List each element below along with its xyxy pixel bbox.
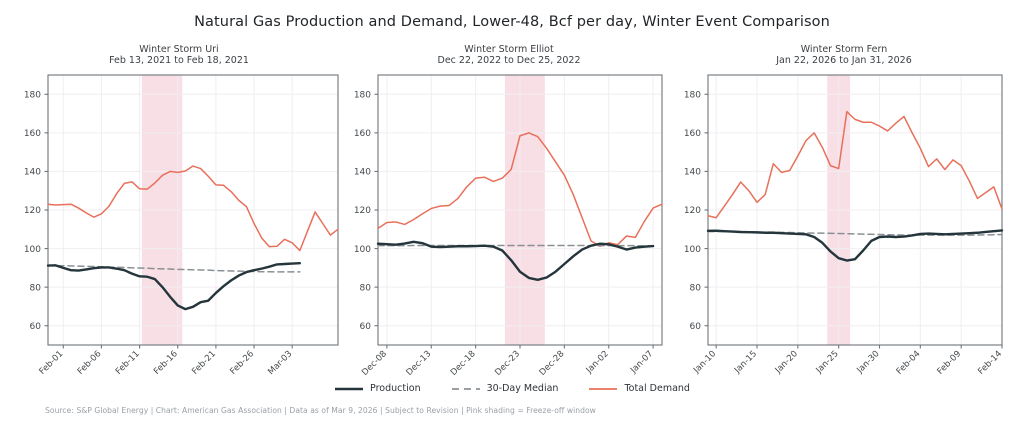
chart-page: Natural Gas Production and Demand, Lower… [0, 0, 1024, 436]
legend-swatch-demand-icon [588, 384, 618, 394]
panel-winter-storm-uri: Winter Storm Uri Feb 13, 2021 to Feb 18,… [14, 44, 344, 394]
legend-label-production: Production [370, 383, 421, 394]
xtick-label: Jan-30 [855, 349, 882, 376]
page-title: Natural Gas Production and Demand, Lower… [0, 14, 1024, 30]
xtick-label: Feb-01 [38, 349, 66, 377]
xtick-label: Jan-20 [773, 349, 800, 376]
ytick-label: 140 [354, 168, 371, 178]
chart-svg-2: 6080100120140160180Jan-10Jan-15Jan-20Jan… [674, 44, 1014, 394]
ytick-label: 60 [30, 322, 42, 332]
ytick-label: 180 [24, 90, 41, 100]
xtick-label: Dec-13 [405, 349, 434, 378]
panel-winter-storm-elliot: Winter Storm Elliot Dec 22, 2022 to Dec … [344, 44, 674, 394]
xtick-label: Dec-28 [538, 349, 567, 378]
xtick-label: Feb-14 [976, 349, 1004, 377]
legend-label-demand: Total Demand [624, 383, 690, 394]
legend-swatch-median-icon [451, 384, 481, 394]
xtick-label: Mar-03 [266, 349, 294, 377]
legend-item-production[interactable]: Production [334, 383, 421, 394]
ytick-label: 100 [354, 245, 371, 255]
xtick-label: Feb-16 [152, 349, 180, 377]
legend-item-median[interactable]: 30-Day Median [451, 383, 559, 394]
ytick-label: 140 [684, 168, 701, 178]
ytick-label: 180 [354, 90, 371, 100]
panels-container: Winter Storm Uri Feb 13, 2021 to Feb 18,… [0, 44, 1024, 394]
ytick-label: 120 [24, 206, 41, 216]
chart-svg-1: 6080100120140160180Dec-08Dec-13Dec-18Dec… [344, 44, 674, 394]
xtick-label: Dec-23 [493, 349, 522, 378]
xtick-label: Feb-04 [895, 349, 923, 377]
ytick-label: 120 [354, 206, 371, 216]
legend-label-median: 30-Day Median [487, 383, 559, 394]
ytick-label: 100 [684, 245, 701, 255]
ytick-label: 160 [354, 129, 371, 139]
ytick-label: 80 [30, 283, 42, 293]
ytick-label: 160 [24, 129, 41, 139]
panel-winter-storm-fern: Winter Storm Fern Jan 22, 2026 to Jan 31… [674, 44, 1014, 394]
ytick-label: 140 [24, 168, 41, 178]
series-total-demand [48, 166, 338, 250]
ytick-label: 120 [684, 206, 701, 216]
xtick-label: Jan-10 [691, 349, 718, 376]
footer-note: Source: S&P Global Energy | Chart: Ameri… [45, 406, 1014, 415]
legend-item-demand[interactable]: Total Demand [588, 383, 690, 394]
chart-svg-0: 6080100120140160180Feb-01Feb-06Feb-11Feb… [14, 44, 344, 394]
xtick-label: Feb-06 [76, 349, 104, 377]
ytick-label: 60 [360, 322, 372, 332]
ytick-label: 100 [24, 245, 41, 255]
ytick-label: 60 [690, 322, 702, 332]
xtick-label: Jan-02 [584, 349, 611, 376]
xtick-label: Jan-15 [732, 349, 759, 376]
ytick-label: 80 [360, 283, 372, 293]
xtick-label: Feb-21 [190, 349, 218, 377]
ytick-label: 160 [684, 129, 701, 139]
xtick-label: Jan-25 [814, 349, 841, 376]
xtick-label: Dec-18 [449, 349, 478, 378]
ytick-label: 80 [690, 283, 702, 293]
legend-swatch-production-icon [334, 384, 364, 394]
xtick-label: Dec-08 [360, 349, 389, 378]
xtick-label: Feb-09 [936, 349, 964, 377]
series-total-demand [708, 112, 1002, 218]
xtick-label: Feb-11 [114, 349, 142, 377]
chart-legend: Production 30-Day Median Total Demand [0, 383, 1024, 394]
xtick-label: Jan-07 [628, 349, 655, 376]
ytick-label: 180 [684, 90, 701, 100]
xtick-label: Feb-26 [228, 349, 256, 377]
